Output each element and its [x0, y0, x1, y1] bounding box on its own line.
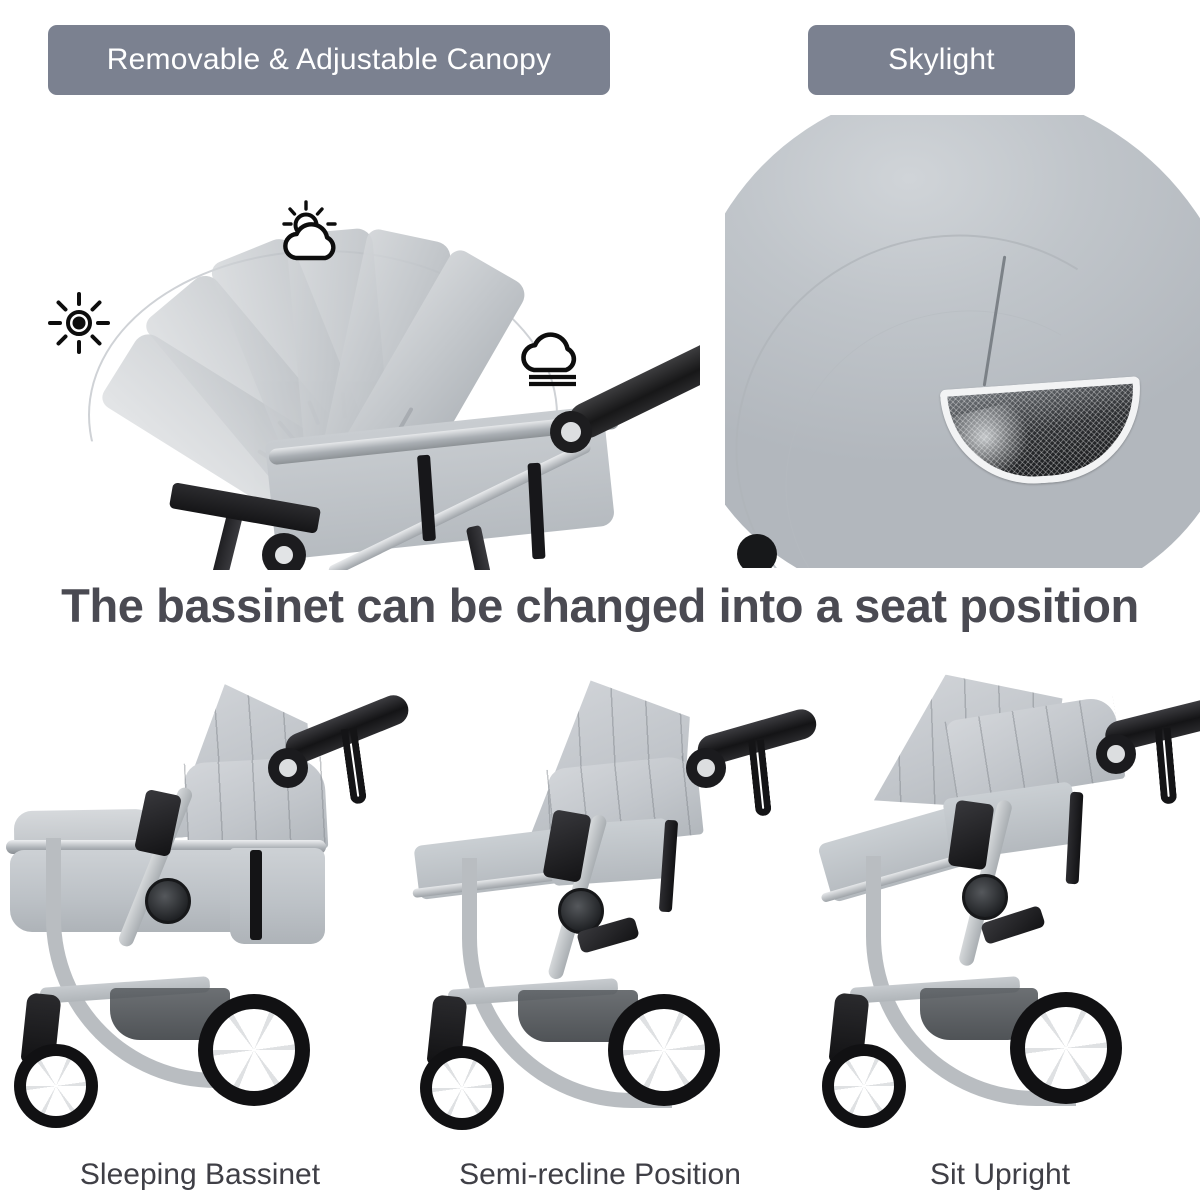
pivot-disc	[962, 874, 1008, 920]
stroller-illustration	[400, 662, 800, 1132]
wheel-edge	[737, 534, 777, 568]
config-sleeping-bassinet: Sleeping Bassinet	[0, 662, 400, 1200]
handle-joint	[1096, 734, 1136, 774]
wrist-strap	[748, 739, 772, 816]
infographic-page: Removable & Adjustable Canopy Skylight	[0, 0, 1200, 1200]
handle-joint	[686, 748, 726, 788]
config-semi-recline: Semi-recline Position	[400, 662, 800, 1200]
banner-skylight: Skylight	[808, 25, 1075, 95]
cloud-fog-icon	[516, 330, 592, 395]
canopy-stroller-body	[150, 345, 700, 570]
frame-leg	[193, 513, 242, 570]
banner-removable-adjustable-canopy: Removable & Adjustable Canopy	[48, 25, 610, 95]
rear-wheel	[608, 994, 720, 1106]
front-wheel	[420, 1046, 504, 1130]
rear-wheel	[198, 994, 310, 1106]
pivot-disc	[145, 878, 191, 924]
skylight-photo	[725, 115, 1200, 568]
wheel-hub	[654, 1040, 674, 1060]
wrist-strap	[341, 727, 367, 804]
page-headline: The bassinet can be changed into a seat …	[0, 578, 1200, 633]
sun-cloud-icon	[276, 200, 350, 269]
handle-joint	[268, 748, 308, 788]
stroller-illustration	[800, 662, 1200, 1132]
sun-icon	[46, 290, 112, 361]
wheel-hub	[454, 1080, 470, 1096]
caption-semi-recline: Semi-recline Position	[400, 1158, 800, 1192]
config-sit-upright: Sit Upright	[800, 662, 1200, 1200]
wheel-hub	[1056, 1038, 1076, 1058]
caption-sleeping-bassinet: Sleeping Bassinet	[0, 1158, 400, 1192]
front-wheel	[14, 1044, 98, 1128]
front-wheel	[822, 1044, 906, 1128]
canopy-adjustment-illustration	[0, 100, 700, 570]
stroller-illustration	[0, 662, 400, 1132]
caption-sit-upright: Sit Upright	[800, 1158, 1200, 1192]
rear-wheel	[1010, 992, 1122, 1104]
pivot-knob	[262, 533, 306, 570]
wheel-hub	[48, 1078, 64, 1094]
wheel-hub	[244, 1040, 264, 1060]
wheel-hub	[856, 1078, 872, 1094]
configuration-row: Sleeping Bassinet	[0, 662, 1200, 1200]
wrist-strap	[1155, 727, 1178, 804]
